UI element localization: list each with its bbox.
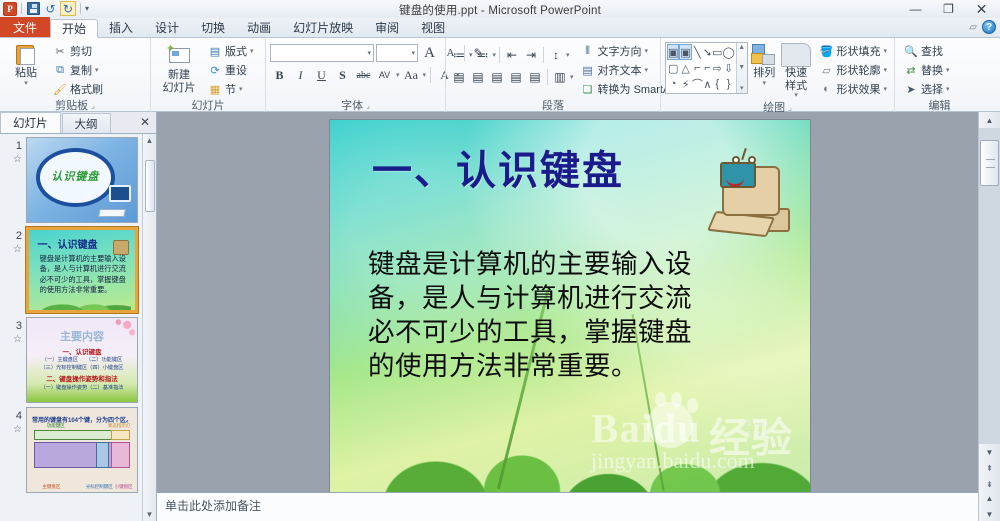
ribbon-group-font: ▾ ▾ A A ✎ B I U S abc A [265,38,445,112]
tab-slideshow[interactable]: 幻灯片放映 [282,18,364,37]
italic-button[interactable]: I [291,66,310,85]
align-center-button[interactable]: ▤ [469,68,487,87]
align-right-button[interactable]: ▤ [488,68,506,87]
slide-title[interactable]: 一、认识键盘 [372,150,772,192]
shape-effects-button[interactable]: ◐ 形状效果 ▾ [816,80,890,98]
window-title: 键盘的使用.ppt - Microsoft PowerPoint [0,2,1000,18]
chevron-down-icon[interactable]: ▾ [367,49,371,57]
thumb3-title: 主要内容 [27,328,137,344]
computer-illustration [99,185,133,219]
text-direction-label: 文字方向 [598,43,642,59]
editing-group-label: 编辑 [899,98,980,112]
new-slide-label-2: 幻灯片 [163,82,196,95]
paste-button[interactable]: 粘贴 ▾ [4,42,48,88]
notes-scrollbar[interactable]: ▲ ▼ [978,492,1000,521]
thumb4-label-2: 状态指示灯 [108,423,131,429]
smartart-icon: ❏ [581,83,595,96]
notes-placeholder: 单击此处添加备注 [165,499,261,513]
section-icon: ▦ [208,83,222,96]
chevron-down-icon[interactable]: ▾ [946,85,950,93]
shape-arc-icon[interactable]: ⌒ [692,76,703,92]
chevron-down-icon[interactable]: ▾ [883,47,887,55]
slide-thumbnail-2[interactable]: 2 ☆ 一、认识键盘 键盘是计算机的主要输入设备，是人与计算机进行交流必不可少的… [0,227,142,313]
chevron-down-icon[interactable]: ▾ [396,71,400,79]
slide-number: 3 ☆ [0,317,26,346]
chevron-down-icon[interactable]: ▾ [24,80,28,88]
shape-outline-button[interactable]: ▱ 形状轮廓 ▾ [816,61,890,79]
thumb3-line-2: （一）主键盘区 （二）功能键区 [27,356,137,363]
reset-icon: ⟳ [208,64,222,77]
chevron-down-icon[interactable]: ▾ [239,85,243,93]
copy-label: 复制 [70,62,92,78]
chevron-down-icon[interactable]: ▾ [883,85,887,93]
align-text-label: 对齐文本 [598,62,642,78]
reset-button[interactable]: ⟳ 重设 [205,61,257,79]
tab-insert[interactable]: 插入 [98,18,144,37]
slide-thumbnail-1[interactable]: 1 ☆ 认识键盘 [0,137,142,223]
paragraph-group-label: 段落 [450,98,656,112]
keyboard-diagram [34,430,131,480]
format-painter-button[interactable]: 🖌 格式刷 [50,80,106,98]
slide-number: 2 ☆ [0,227,26,256]
clipboard-group-label: 剪贴板 ⌟ [4,98,146,112]
pane-tab-slides[interactable]: 幻灯片 [0,112,61,133]
notes-scroll-up-icon[interactable]: ▲ [986,494,994,503]
close-button[interactable]: ✕ [965,0,998,18]
copy-button[interactable]: ⧉ 复制 ▾ [50,61,106,79]
shape-line-icon[interactable]: ╲ [692,44,703,60]
scroll-thumb[interactable] [980,140,999,186]
select-label: 选择 [921,81,943,97]
justify-button[interactable]: ▤ [507,68,525,87]
arrange-icon [751,43,777,67]
section-label: 节 [225,81,236,97]
chevron-down-icon[interactable]: ▾ [570,73,574,81]
ribbon-group-clipboard: 粘贴 ▾ ✂ 剪切 ⧉ 复制 ▾ 🖌 格式刷 [0,38,150,112]
chevron-down-icon[interactable]: ▾ [95,66,99,74]
animation-star-icon: ☆ [0,423,22,436]
bullets-button[interactable]: ≔ [450,46,468,65]
ribbon-group-paragraph: ≔ ▾ ≕ ▾ ⇤ ⇥ ↕ ▾ ▤ ▤ ▤ [445,38,660,112]
clipboard-dialog-launcher[interactable]: ⌟ [91,101,95,110]
pane-tab-outline[interactable]: 大纲 [62,113,111,133]
pane-scroll-up-icon[interactable]: ▲ [146,136,154,145]
arrange-label: 排列 [753,67,775,80]
shape-left-brace-icon[interactable]: { [712,76,722,92]
gallery-more-icon[interactable]: ▾ [740,84,744,92]
computer-illustration [113,240,129,255]
shape-rect-icon[interactable]: ▭ [712,44,722,60]
thumb4-label-4: 光标控制键区 [86,484,113,490]
tab-file[interactable]: 文件 [0,17,50,37]
thumb3-line-3: （三）光标控制键区（四）小键盘区 [27,364,137,371]
chevron-down-icon[interactable]: ▾ [566,51,570,59]
chevron-down-icon[interactable]: ▾ [645,66,649,74]
slide-thumbnail-list[interactable]: 1 ☆ 认识键盘 2 ☆ [0,134,142,521]
scroll-down-icon[interactable]: ▼ [738,64,745,71]
chevron-down-icon[interactable]: ▾ [883,66,887,74]
increase-indent-button[interactable]: ⇥ [522,46,540,65]
layout-button[interactable]: ▤ 版式 ▾ [205,42,257,60]
paintbrush-icon: 🖌 [53,83,67,96]
shape-lightning-icon[interactable]: ⚡ [679,76,691,92]
tab-view[interactable]: 视图 [410,18,456,37]
ribbon-controls: ▱ ? [969,20,996,34]
tab-design[interactable]: 设计 [144,18,190,37]
shape-arrow-icon[interactable]: ➘ [703,44,712,60]
shape-textbox-icon[interactable]: ▣ [667,44,679,60]
paste-label: 粘贴 [15,67,37,80]
current-slide[interactable]: 一、认识键盘 键盘是计算机的主要输入设备，是人与计算机进行交流必不可少的工具，掌… [330,120,810,492]
character-spacing-button[interactable]: AV [375,66,394,85]
shape-down-arrow-icon[interactable]: ⇩ [722,60,734,76]
chevron-down-icon[interactable]: ▾ [411,49,415,57]
cut-label: 剪切 [70,43,92,59]
reset-label: 重设 [225,62,247,78]
scroll-up-icon[interactable]: ▲ [738,44,745,51]
replace-label: 替换 [921,62,943,78]
slides-pane-tabs: 幻灯片 大纲 ✕ [0,112,156,134]
ribbon-group-drawing: ▣ ▣ ╲ ➘ ▭ ◯ ▢ △ ⌐ ⌐ ⇨ ⇩ ◔ ⚡ ⌒ [660,38,894,112]
tab-review[interactable]: 审阅 [364,18,410,37]
select-button[interactable]: ➤ 选择 ▾ [901,80,953,98]
tab-transitions[interactable]: 切换 [190,18,236,37]
thumb2-title: 一、认识键盘 [37,236,97,251]
pane-scroll-down-icon[interactable]: ▼ [146,510,154,519]
new-slide-label-1: 新建 [168,69,190,82]
shapes-gallery[interactable]: ▣ ▣ ╲ ➘ ▭ ◯ ▢ △ ⌐ ⌐ ⇨ ⇩ ◔ ⚡ ⌒ [665,42,748,94]
binoculars-icon: 🔍 [904,45,918,58]
slide-nav-buttons: ▼ ⇞ ⇟ [979,444,1000,492]
chevron-down-icon[interactable]: ▾ [250,47,254,55]
close-pane-icon[interactable]: ✕ [138,115,152,129]
font-size-input[interactable]: ▾ [376,44,418,62]
chevron-down-icon[interactable]: ▾ [794,92,798,100]
next-slide-button[interactable]: ⇟ [979,476,1000,492]
slide-number: 1 ☆ [0,137,26,166]
find-label: 查找 [921,43,943,59]
ribbon: 粘贴 ▾ ✂ 剪切 ⧉ 复制 ▾ 🖌 格式刷 [0,38,1000,112]
stat-down: 0 kb/s [747,430,768,440]
format-painter-label: 格式刷 [70,81,103,97]
powerpoint-window: P ↺ ↻ ▾ 键盘的使用.ppt - Microsoft PowerPoint… [0,0,1000,521]
font-group-label: 字体 ⌟ [270,98,441,112]
scroll-down-icon[interactable]: ▼ [979,444,1000,460]
thumb1-title: 认识键盘 [41,168,109,184]
columns-button[interactable]: ▥ [551,68,569,87]
thumb4-label-1: 功能键区 [47,423,65,429]
slides-pane-scrollbar[interactable]: ▲ ▼ [142,134,156,521]
shape-effects-label: 形状效果 [836,81,880,97]
layout-label: 版式 [225,43,247,59]
main-vertical-scrollbar[interactable]: ▲ ▼ ⇞ ⇟ [978,112,1000,492]
slide-editing-area[interactable]: 一、认识键盘 键盘是计算机的主要输入设备，是人与计算机进行交流必不可少的工具，掌… [157,112,978,492]
cut-button[interactable]: ✂ 剪切 [50,42,106,60]
pane-scroll-thumb[interactable] [145,160,155,212]
slide-thumb-image[interactable]: 一、认识键盘 键盘是计算机的主要输入设备，是人与计算机进行交流必不可少的工具，掌… [26,227,138,313]
text-shadow-button[interactable]: S [333,66,352,85]
minimize-button[interactable]: — [899,0,932,18]
scissors-icon: ✂ [53,45,67,58]
quick-styles-label: 快速样式 [781,67,812,92]
slide-body-text[interactable]: 键盘是计算机的主要输入设备，是人与计算机进行交流必不可少的工具，掌握键盘的使用方… [368,248,698,384]
font-name-input[interactable]: ▾ [270,44,374,62]
thumb4-label-5: 小键盘区 [115,484,133,490]
slide-thumb-image[interactable]: 主要内容 一、认识键盘 （一）主键盘区 （二）功能键区 （三）光标控制键区（四）… [26,317,138,403]
line-spacing-button[interactable]: ↕ [547,46,565,65]
chevron-down-icon[interactable]: ▾ [762,80,766,88]
new-slide-icon: ✦ [166,43,192,69]
cursor-icon: ➤ [904,83,918,96]
chevron-down-icon[interactable]: ▾ [469,51,473,59]
thumb3-line-5: （一）键盘操作姿势（二）基准指法 [27,384,137,391]
shape-fill-label: 形状填充 [836,43,880,59]
restore-button[interactable]: ❐ [932,0,965,18]
animation-star-icon: ☆ [0,153,22,166]
slides-group-label: 幻灯片 [155,98,261,112]
decrease-indent-button[interactable]: ⇤ [503,46,521,65]
copy-icon: ⧉ [53,64,67,77]
slide-thumb-image[interactable]: 认识键盘 [26,137,138,223]
title-bar: P ↺ ↻ ▾ 键盘的使用.ppt - Microsoft PowerPoint… [0,0,1000,18]
arrange-button[interactable]: 排列 ▾ [751,42,778,88]
find-button[interactable]: 🔍 查找 [901,42,953,60]
shape-oval-icon[interactable]: ◯ [722,44,734,60]
chevron-down-icon[interactable]: ▾ [645,47,649,55]
slide-number: 4 ☆ [0,407,26,436]
shape-elbow-icon[interactable]: ⌐ [692,60,703,76]
change-case-button[interactable]: Aa [402,66,421,85]
shapes-gallery-scrollbar[interactable]: ▲ ▼ ▾ [736,43,747,93]
shape-fill-button[interactable]: 🪣 形状填充 ▾ [816,42,890,60]
notes-scroll-down-icon[interactable]: ▼ [986,510,994,519]
slides-pane: 幻灯片 大纲 ✕ 1 ☆ 认识键盘 2 [0,112,157,521]
previous-slide-button[interactable]: ⇞ [979,460,1000,476]
new-slide-button[interactable]: ✦ 新建 幻灯片 [155,42,203,94]
thumb3-line-4: 二、键盘操作姿势和指法 [27,373,137,383]
ribbon-group-editing: 🔍 查找 ⇄ 替换 ▾ ➤ 选择 ▾ 编辑 [894,38,984,112]
layout-icon: ▤ [208,45,222,58]
distribute-button[interactable]: ▤ [526,68,544,87]
font-dialog-launcher[interactable]: ⌟ [366,101,370,110]
shape-effects-icon: ◐ [819,83,833,95]
shape-pie-icon[interactable]: ◔ [667,76,679,92]
shape-outline-label: 形状轮廓 [836,62,880,78]
quick-styles-icon [781,43,811,67]
scroll-up-icon[interactable]: ▲ [979,112,1000,128]
chevron-down-icon[interactable]: ▾ [423,71,427,79]
section-button[interactable]: ▦ 节 ▾ [205,80,257,98]
shape-outline-icon: ▱ [819,64,833,77]
drawing-dialog-launcher[interactable]: ⌟ [788,103,792,112]
window-buttons: — ❐ ✕ [899,0,998,18]
shape-angle-icon[interactable]: ∧ [703,76,712,92]
replace-button[interactable]: ⇄ 替换 ▾ [901,61,953,79]
network-stats-overlay: 0 kb/s 0 kb/s [747,419,768,440]
align-left-button[interactable]: ▤ [450,68,468,87]
slide-thumbnail-3[interactable]: 3 ☆ 主要内容 一、认识键盘 （一）主键盘区 （二）功能键区 （三）光标控制键… [0,317,142,403]
thumb2-body: 键盘是计算机的主要输入设备，是人与计算机进行交流必不可少的工具，掌握键盘的使用方… [40,254,127,296]
animation-star-icon: ☆ [0,243,22,256]
shape-right-brace-icon[interactable]: } [722,76,734,92]
animation-star-icon: ☆ [0,333,22,346]
shape-elbow2-icon[interactable]: ⌐ [703,60,712,76]
chevron-down-icon[interactable]: ▾ [493,51,497,59]
chevron-down-icon[interactable]: ▾ [946,66,950,74]
shape-triangle-icon[interactable]: △ [679,60,691,76]
grow-font-button[interactable]: A [420,44,439,63]
slide-thumbnail-4[interactable]: 4 ☆ 常用的键盘有104个键，分为四个区。 功能键区 [0,407,142,493]
help-icon[interactable]: ? [982,20,996,34]
thumb3-line-1: 一、认识键盘 [27,346,137,356]
notes-pane[interactable]: 单击此处添加备注 [157,492,978,521]
ribbon-tabs: 文件 开始 插入 设计 切换 动画 幻灯片放映 审阅 视图 [0,18,1000,38]
ribbon-group-slides: ✦ 新建 幻灯片 ▤ 版式 ▾ ⟳ 重设 ▦ [150,38,265,112]
bold-button[interactable]: B [270,66,289,85]
shape-rounded-rect-icon[interactable]: ▢ [667,60,679,76]
align-text-icon: ▤ [581,64,595,77]
stat-up: 0 kb/s [747,419,768,429]
shape-right-arrow-icon[interactable]: ⇨ [712,60,722,76]
thumb4-label-3: 主键盘区 [42,484,60,490]
text-direction-icon: ⦀ [581,45,595,58]
strikethrough-button[interactable]: abc [354,66,373,85]
replace-icon: ⇄ [904,64,918,77]
tab-home[interactable]: 开始 [50,19,98,38]
shape-textbox2-icon[interactable]: ▣ [679,44,691,60]
scroll-track[interactable] [979,128,1000,444]
slide-thumb-image[interactable]: 常用的键盘有104个键，分为四个区。 功能键区 状态指示灯 主键盘区 光标控制键… [26,407,138,493]
shape-fill-icon: 🪣 [819,45,833,58]
quick-styles-button[interactable]: 快速样式 ▾ [781,42,812,100]
numbering-button[interactable]: ≕ [474,46,492,65]
underline-button[interactable]: U [312,66,331,85]
collapse-ribbon-icon[interactable]: ▱ [969,22,977,33]
tab-animations[interactable]: 动画 [236,18,282,37]
paste-icon [15,43,37,67]
